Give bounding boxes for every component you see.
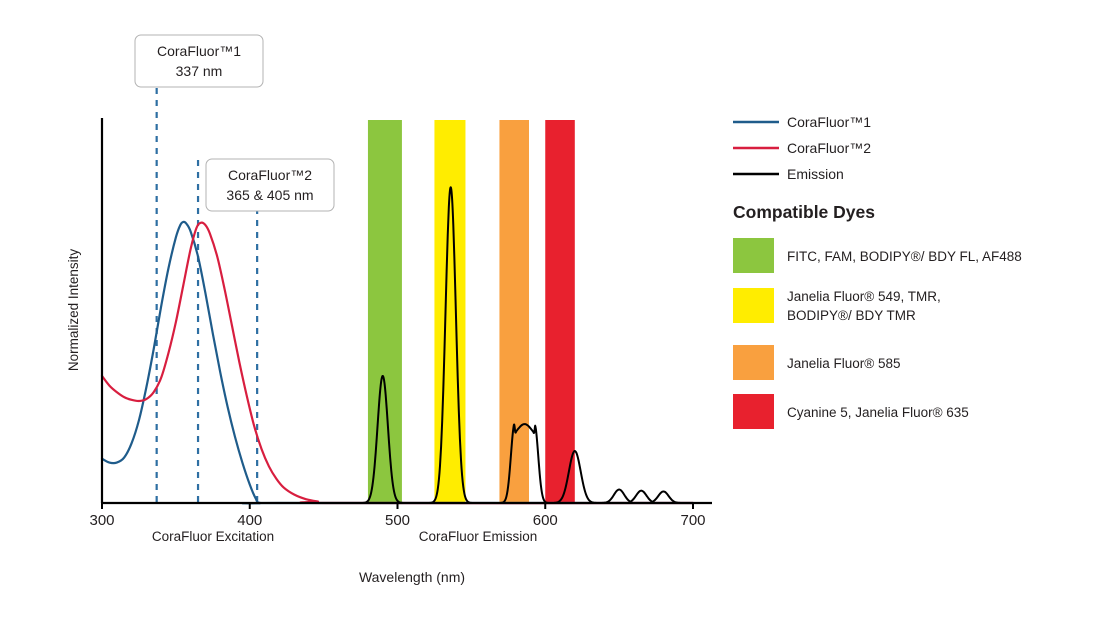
- dye-swatch-0: [733, 238, 774, 273]
- dye-label-3-line-0: Cyanine 5, Janelia Fluor® 635: [787, 405, 969, 420]
- corafluor2-callout-line2: 365 & 405 nm: [226, 187, 313, 203]
- corafluor2-callout: CoraFluor™2 365 & 405 nm: [206, 159, 334, 211]
- corafluor2-callout-line1: CoraFluor™2: [228, 167, 312, 183]
- spectra-figure: 300400500600700 Normalized Intensity Wav…: [0, 0, 1110, 612]
- dye-label-1-line-1: BODIPY®/ BDY TMR: [787, 308, 916, 323]
- green-band: [368, 120, 402, 503]
- emission-section-label: CoraFluor Emission: [419, 529, 538, 544]
- dye-label-2-line-0: Janelia Fluor® 585: [787, 356, 901, 371]
- x-tick-label-300: 300: [89, 512, 114, 529]
- compatible-dyes-heading: Compatible Dyes: [733, 202, 875, 222]
- corafluor1-callout-line2: 337 nm: [176, 63, 223, 79]
- dye-label-1-line-0: Janelia Fluor® 549, TMR,: [787, 289, 941, 304]
- x-tick-label-500: 500: [385, 512, 410, 529]
- legend-label-1: CoraFluor™2: [787, 140, 871, 156]
- corafluor1-callout-line1: CoraFluor™1: [157, 43, 241, 59]
- x-tick-label-600: 600: [533, 512, 558, 529]
- x-axis-title: Wavelength (nm): [359, 569, 465, 585]
- dye-label-0-line-0: FITC, FAM, BODIPY®/ BDY FL, AF488: [787, 249, 1022, 264]
- corafluor1-callout: CoraFluor™1 337 nm: [135, 35, 263, 87]
- red-band: [545, 120, 575, 503]
- dye-swatch-3: [733, 394, 774, 429]
- y-axis-title: Normalized Intensity: [66, 249, 81, 372]
- x-tick-label-400: 400: [237, 512, 262, 529]
- legend-label-0: CoraFluor™1: [787, 114, 871, 130]
- legend-label-2: Emission: [787, 166, 844, 182]
- chart-canvas: 300400500600700 Normalized Intensity Wav…: [0, 0, 1110, 612]
- dye-swatch-2: [733, 345, 774, 380]
- x-tick-label-700: 700: [680, 512, 705, 529]
- excitation-section-label: CoraFluor Excitation: [152, 529, 274, 544]
- orange-band: [499, 120, 529, 503]
- dye-swatch-1: [733, 288, 774, 323]
